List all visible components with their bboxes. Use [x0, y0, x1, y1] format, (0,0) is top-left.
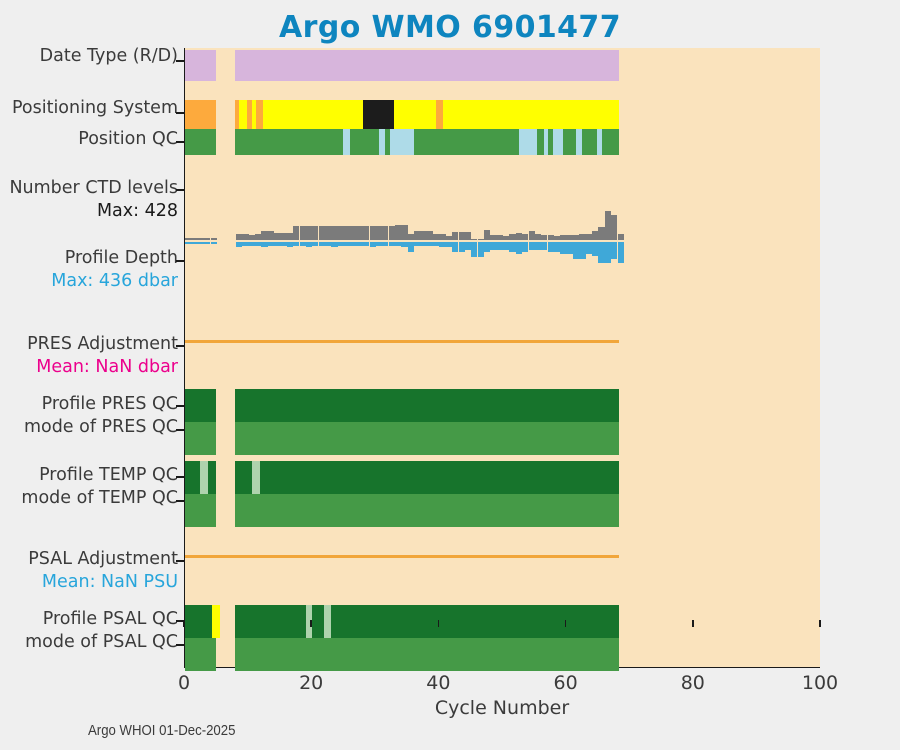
depth-bar — [459, 242, 465, 252]
band-segment — [331, 605, 619, 638]
ctd-level-bar — [306, 226, 312, 240]
ctd-level-bar — [618, 234, 624, 240]
depth-bar — [452, 242, 458, 252]
row-sublabel-mode-temp-qc: mode of TEMP QC — [21, 487, 178, 510]
row-label-profile-depth: Profile Depth Max: 436 dbar — [51, 247, 178, 293]
ctd-level-bar — [497, 235, 503, 240]
row-sublabel-pres-mean: Mean: NaN dbar — [27, 356, 178, 379]
ctd-level-bar — [579, 234, 585, 240]
band-segment — [200, 461, 208, 494]
depth-bar — [255, 242, 261, 246]
band-segment — [519, 129, 537, 155]
depth-bar — [598, 242, 604, 263]
row-label-psal-adjustment: PSAL Adjustment Mean: NaN PSU — [28, 548, 178, 594]
depth-bar — [592, 242, 598, 256]
ctd-level-bar — [548, 235, 554, 240]
ctd-level-bar — [331, 226, 337, 240]
ctd-level-bar — [389, 226, 395, 240]
depth-bar — [370, 242, 376, 247]
adjustment-line — [185, 340, 619, 343]
depth-bar — [274, 242, 280, 246]
row-sublabel-mode-pres-qc: mode of PRES QC — [24, 416, 178, 439]
band-segment — [563, 129, 576, 155]
ctd-level-bar — [611, 215, 617, 240]
depth-bar — [503, 242, 509, 250]
axis-tick-position-qc — [176, 141, 184, 143]
x-tick-label: 40 — [408, 672, 468, 694]
depth-bar — [516, 242, 522, 254]
ctd-level-bar — [529, 231, 535, 240]
ctd-level-bar — [261, 231, 267, 240]
row-label-text: Positioning System — [12, 98, 178, 118]
depth-bar — [509, 242, 515, 252]
band-segment — [350, 129, 379, 155]
depth-bar — [350, 242, 356, 246]
x-tick-label: 80 — [663, 672, 723, 694]
depth-bar — [363, 242, 369, 246]
depth-bar — [541, 242, 547, 250]
band-segment — [394, 100, 436, 129]
ctd-level-bar — [363, 226, 369, 240]
x-tick — [310, 620, 312, 627]
axis-tick-psal-adj — [176, 560, 184, 562]
depth-bar — [522, 242, 528, 252]
depth-bar — [382, 242, 388, 246]
depth-bar — [427, 242, 433, 246]
row-label-number-ctd-levels: Number CTD levels Max: 428 — [9, 177, 178, 223]
depth-bar — [312, 242, 318, 246]
row-sublabel-psal-mean: Mean: NaN PSU — [28, 571, 178, 594]
ctd-level-bar — [376, 226, 382, 240]
x-tick-label: 20 — [281, 672, 341, 694]
band-segment — [582, 129, 597, 155]
depth-bar — [439, 242, 445, 247]
depth-bar — [389, 242, 395, 246]
ctd-level-bar — [433, 234, 439, 240]
band-segment — [414, 129, 519, 155]
ctd-level-bar — [535, 234, 541, 240]
depth-bar — [420, 242, 426, 246]
ctd-level-bar — [357, 226, 363, 240]
footer-credit: Argo WHOI 01-Dec-2025 — [88, 722, 235, 739]
row-label-text: Position QC — [78, 129, 178, 149]
x-axis-title: Cycle Number — [184, 697, 820, 719]
ctd-level-bar — [185, 238, 191, 240]
band-segment — [260, 461, 619, 494]
ctd-level-bar — [280, 233, 286, 240]
band-segment — [443, 100, 619, 129]
ctd-level-bar — [420, 231, 426, 240]
ctd-level-bar — [401, 225, 407, 240]
axis-tick-depth — [176, 260, 184, 262]
row-label-pres-adjustment: PRES Adjustment Mean: NaN dbar — [27, 333, 178, 379]
x-tick-label: 0 — [154, 672, 214, 694]
ctd-level-bar — [191, 238, 197, 240]
depth-bar — [261, 242, 267, 247]
axis-tick-ctd — [176, 189, 184, 191]
band-segment — [235, 461, 252, 494]
band-segment — [263, 100, 280, 129]
depth-bar — [331, 242, 337, 247]
depth-bar — [204, 242, 210, 244]
depth-bar — [465, 242, 471, 250]
depth-bar — [548, 242, 554, 252]
ctd-level-bar — [268, 231, 274, 240]
ctd-level-bar — [395, 225, 401, 240]
axis-tick-temp-qc — [176, 476, 184, 478]
depth-bar — [306, 242, 312, 247]
depth-bar — [401, 242, 407, 247]
depth-bar — [497, 242, 503, 250]
band-segment — [185, 50, 216, 81]
band-segment — [235, 605, 306, 638]
depth-bar — [446, 242, 452, 247]
ctd-level-bar — [198, 238, 204, 240]
row-label-text: Number CTD levels — [9, 178, 178, 198]
band-segment — [185, 100, 216, 129]
band-segment — [602, 129, 619, 155]
depth-bar — [293, 242, 299, 246]
depth-bar — [185, 242, 191, 244]
ctd-level-bar — [211, 238, 217, 240]
band-segment — [185, 494, 216, 527]
ctd-level-bar — [446, 236, 452, 240]
depth-bar — [618, 242, 624, 263]
ctd-level-bar — [439, 234, 445, 240]
band-segment — [212, 605, 220, 638]
depth-bar — [198, 242, 204, 244]
ctd-level-bar — [312, 226, 318, 240]
x-tick — [692, 620, 694, 627]
depth-bar — [408, 242, 414, 252]
depth-bar — [484, 242, 490, 252]
row-sublabel-mode-psal-qc: mode of PSAL QC — [25, 631, 178, 654]
depth-bar — [338, 242, 344, 246]
row-label-text: PRES Adjustment — [27, 334, 178, 354]
depth-bar — [287, 242, 293, 247]
adjustment-line — [185, 555, 619, 558]
band-segment — [390, 129, 414, 155]
depth-bar — [268, 242, 274, 246]
x-tick — [819, 620, 821, 627]
row-label-text: Date Type (R/D) — [40, 46, 178, 66]
ctd-level-bar — [319, 226, 325, 240]
ctd-level-bar — [592, 231, 598, 240]
depth-bar — [535, 242, 541, 250]
depth-bar — [191, 242, 197, 244]
depth-bar — [325, 242, 331, 246]
ctd-level-bar — [490, 235, 496, 240]
ctd-level-bar — [516, 233, 522, 240]
row-label-text: Profile PRES QC — [42, 394, 178, 414]
ctd-level-bar — [573, 235, 579, 240]
row-label-text: PSAL Adjustment — [28, 549, 178, 569]
x-tick — [565, 620, 567, 627]
ctd-level-bar — [598, 227, 604, 240]
row-label-positioning-system: Positioning System — [12, 97, 178, 120]
ctd-level-bar — [452, 232, 458, 240]
ctd-level-bar — [478, 239, 484, 241]
row-label-profile-pres-qc: Profile PRES QC mode of PRES QC — [24, 393, 178, 439]
ctd-level-bar — [350, 226, 356, 240]
ctd-level-bar — [465, 232, 471, 240]
depth-bar — [586, 242, 592, 254]
depth-bar — [414, 242, 420, 246]
axis-tick-mode-temp — [176, 500, 184, 502]
band-segment — [312, 605, 325, 638]
ctd-level-bar — [471, 239, 477, 241]
ctd-level-bar — [427, 231, 433, 240]
ctd-level-bar — [300, 226, 306, 240]
depth-bar — [344, 242, 350, 246]
band-segment — [363, 100, 394, 129]
band-segment — [553, 129, 563, 155]
band-segment — [208, 461, 216, 494]
depth-bar — [490, 242, 496, 250]
depth-bar — [211, 242, 217, 244]
ctd-level-bar — [554, 236, 560, 240]
ctd-level-bar — [249, 235, 255, 240]
band-segment — [185, 129, 216, 155]
plot-area — [184, 48, 820, 668]
depth-bar — [319, 242, 325, 246]
ctd-level-bar — [293, 226, 299, 240]
x-tick — [438, 620, 440, 627]
ctd-level-bar — [204, 238, 210, 240]
band-segment — [185, 605, 212, 638]
axis-tick-positioning — [176, 112, 184, 114]
depth-bar — [236, 242, 242, 247]
band-segment — [185, 461, 200, 494]
depth-bar — [579, 242, 585, 259]
axis-tick-mode-psal — [176, 644, 184, 646]
row-sublabel-depth-max: Max: 436 dbar — [51, 270, 178, 293]
x-tick — [183, 620, 185, 627]
ctd-level-bar — [287, 233, 293, 240]
row-label-profile-temp-qc: Profile TEMP QC mode of TEMP QC — [21, 464, 178, 510]
x-tick-label: 100 — [790, 672, 850, 694]
ctd-level-bar — [242, 234, 248, 240]
band-segment — [235, 50, 619, 81]
depth-bar — [567, 242, 573, 254]
axis-tick-date-type — [176, 60, 184, 62]
ctd-level-bar — [509, 234, 515, 240]
ctd-level-bar — [459, 232, 465, 240]
band-segment — [343, 129, 350, 155]
depth-bar — [560, 242, 566, 254]
row-label-position-qc: Position QC — [78, 128, 178, 151]
ctd-level-bar — [338, 226, 344, 240]
depth-bar — [573, 242, 579, 259]
ctd-level-bar — [408, 234, 414, 240]
depth-bar — [605, 242, 611, 263]
depth-bar — [478, 242, 484, 257]
depth-bar — [529, 242, 535, 250]
depth-bar — [357, 242, 363, 246]
row-label-text: Profile Depth — [65, 248, 178, 268]
ctd-level-bar — [522, 234, 528, 240]
depth-bar — [471, 242, 477, 257]
depth-bar — [433, 242, 439, 246]
depth-bar — [611, 242, 617, 259]
band-segment — [185, 422, 216, 455]
band-segment — [235, 129, 342, 155]
ctd-level-bar — [503, 236, 509, 240]
row-label-text: Profile PSAL QC — [43, 609, 178, 629]
depth-bar — [554, 242, 560, 252]
ctd-level-bar — [560, 235, 566, 240]
band-segment — [235, 638, 619, 671]
depth-bar — [376, 242, 382, 246]
depth-bar — [249, 242, 255, 246]
ctd-level-bar — [414, 231, 420, 240]
ctd-level-bar — [344, 226, 350, 240]
ctd-level-bar — [274, 233, 280, 240]
band-segment — [256, 100, 263, 129]
ctd-level-bar — [586, 234, 592, 240]
row-label-date-type: Date Type (R/D) — [40, 45, 178, 68]
band-segment — [185, 389, 216, 422]
depth-bar — [280, 242, 286, 246]
band-segment — [436, 100, 444, 129]
ctd-level-bar — [541, 235, 547, 240]
band-segment — [235, 494, 619, 527]
ctd-level-bar — [370, 226, 376, 240]
page-title: Argo WMO 6901477 — [0, 10, 900, 45]
band-segment — [239, 100, 247, 129]
row-label-text: Profile TEMP QC — [39, 465, 178, 485]
ctd-level-bar — [255, 234, 261, 240]
row-sublabel-ctd-max: Max: 428 — [9, 200, 178, 223]
band-segment — [252, 461, 260, 494]
axis-tick-mode-pres — [176, 429, 184, 431]
band-segment — [235, 389, 619, 422]
depth-bar — [395, 242, 401, 246]
band-segment — [280, 100, 363, 129]
axis-tick-pres-qc — [176, 405, 184, 407]
band-segment — [185, 638, 216, 671]
band-segment — [235, 422, 619, 455]
depth-bar — [300, 242, 306, 246]
x-tick-label: 60 — [536, 672, 596, 694]
ctd-level-bar — [236, 234, 242, 240]
ctd-level-bar — [484, 230, 490, 240]
row-label-profile-psal-qc: Profile PSAL QC mode of PSAL QC — [25, 608, 178, 654]
depth-bar — [242, 242, 248, 246]
ctd-level-bar — [382, 226, 388, 240]
ctd-level-bar — [605, 211, 611, 240]
axis-tick-pres-adj — [176, 345, 184, 347]
ctd-level-bar — [567, 235, 573, 240]
ctd-level-bar — [325, 226, 331, 240]
